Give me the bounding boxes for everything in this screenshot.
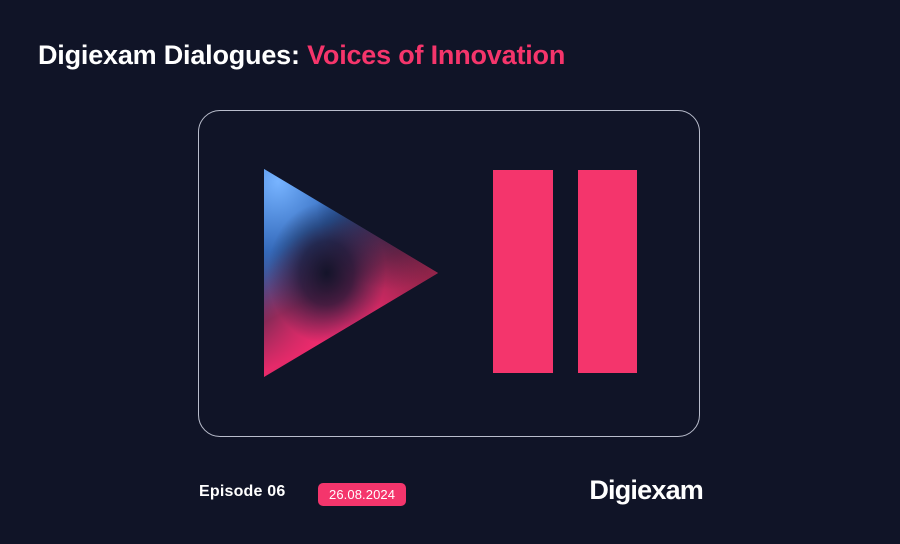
pause-bar-right[interactable] (578, 170, 637, 373)
pause-bar-left[interactable] (493, 170, 553, 373)
play-triangle-icon[interactable] (264, 169, 438, 377)
slide-canvas: Digiexam Dialogues: Voices of Innovation (0, 0, 900, 544)
play-triangle-fill (264, 169, 438, 377)
title-primary: Digiexam Dialogues: (38, 40, 300, 70)
brand-logo: Digiexam (589, 475, 703, 506)
title-accent: Voices of Innovation (307, 40, 565, 70)
episode-label: Episode 06 (199, 483, 285, 501)
page-title: Digiexam Dialogues: Voices of Innovation (38, 38, 565, 72)
date-badge: 26.08.2024 (318, 483, 406, 506)
